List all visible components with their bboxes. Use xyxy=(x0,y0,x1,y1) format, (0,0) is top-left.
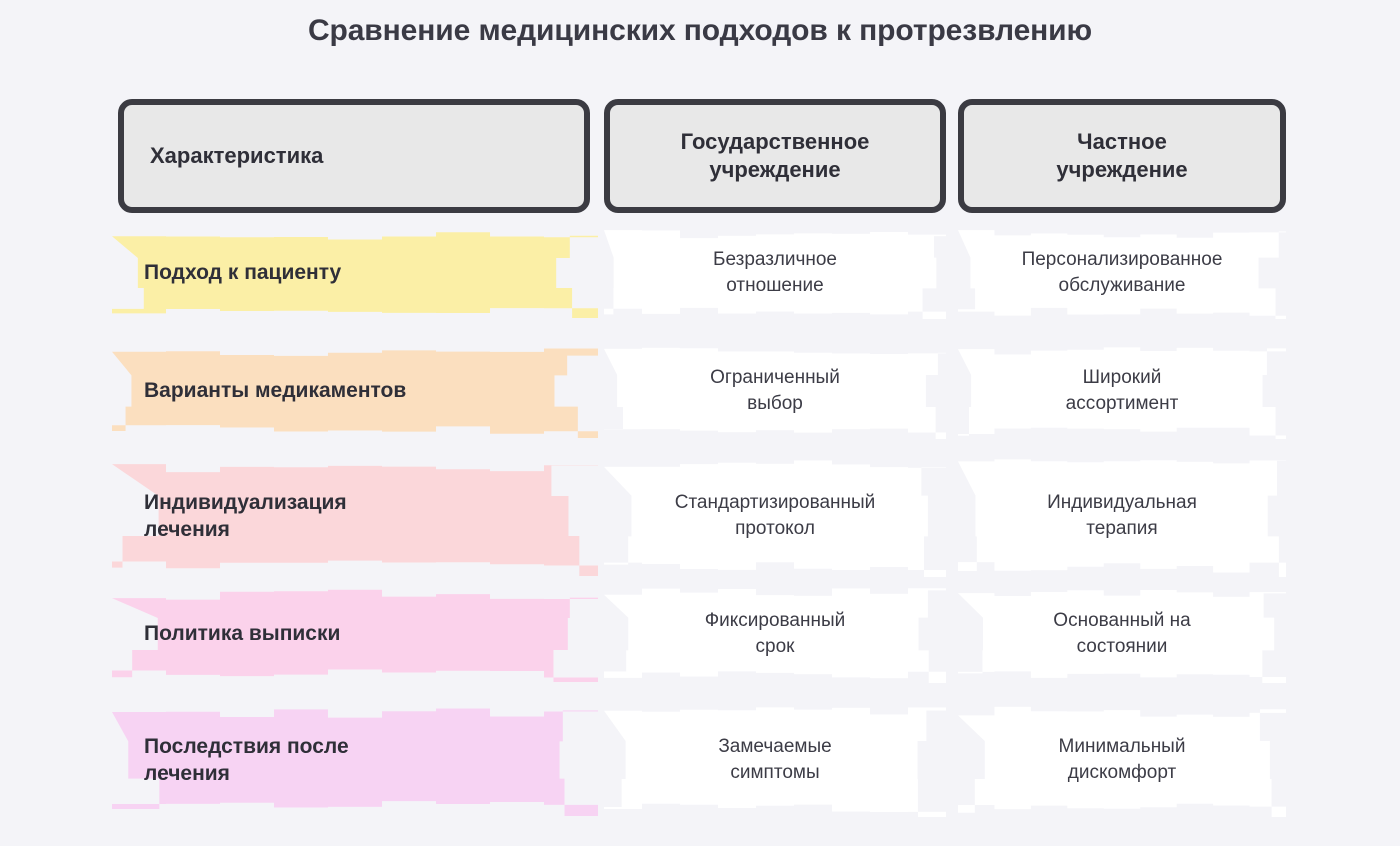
row-label-text: Индивидуализация лечения xyxy=(144,489,347,544)
row-label-cell: Индивидуализация лечения xyxy=(112,452,598,580)
cell-value-text: Основанный на состоянии xyxy=(1053,608,1190,660)
cell-value-text: Замечаемые симптомы xyxy=(718,734,831,786)
row-label-cell: Подход к пациенту xyxy=(112,224,598,322)
row-value-cell: Безразличное отношение xyxy=(604,224,946,322)
row-value-cell: Индивидуальная терапия xyxy=(958,452,1286,580)
cell-value-text: Безразличное отношение xyxy=(713,247,837,299)
row-label-text: Подход к пациенту xyxy=(144,259,341,286)
cell-value-text: Персонализированное обслуживание xyxy=(1022,247,1223,299)
row-label-text: Политика выписки xyxy=(144,620,340,647)
row-value-cell: Замечаемые симптомы xyxy=(604,700,946,820)
row-label-text: Варианты медикаментов xyxy=(144,377,406,404)
row-label-cell: Политика выписки xyxy=(112,582,598,686)
table-header-row: Характеристика Государственное учреждени… xyxy=(0,92,1400,220)
column-header-label: Государственное учреждение xyxy=(681,128,870,184)
column-header-public-institution: Государственное учреждение xyxy=(604,99,946,213)
table-row: Политика выпискиФиксированный срокОснова… xyxy=(0,582,1400,686)
comparison-table: Характеристика Государственное учреждени… xyxy=(0,92,1400,842)
cell-value-text: Фиксированный срок xyxy=(705,608,846,660)
table-row: Подход к пациентуБезразличное отношениеП… xyxy=(0,224,1400,322)
column-header-label: Характеристика xyxy=(150,142,323,170)
cell-value-text: Минимальный дискомфорт xyxy=(1059,734,1186,786)
cell-value-text: Стандартизированный протокол xyxy=(675,490,876,542)
row-label-cell: Последствия после лечения xyxy=(112,700,598,820)
row-label-cell: Варианты медикаментов xyxy=(112,340,598,442)
table-row: Последствия после леченияЗамечаемые симп… xyxy=(0,700,1400,820)
column-header-characteristic: Характеристика xyxy=(118,99,590,213)
cell-value-text: Индивидуальная терапия xyxy=(1047,490,1197,542)
table-row: Варианты медикаментовОграниченный выборШ… xyxy=(0,340,1400,442)
page-title: Сравнение медицинских подходов к протрез… xyxy=(0,14,1400,48)
row-value-cell: Минимальный дискомфорт xyxy=(958,700,1286,820)
row-value-cell: Основанный на состоянии xyxy=(958,582,1286,686)
column-header-private-institution: Частное учреждение xyxy=(958,99,1286,213)
column-header-label: Частное учреждение xyxy=(1056,128,1187,184)
row-value-cell: Ограниченный выбор xyxy=(604,340,946,442)
row-value-cell: Персонализированное обслуживание xyxy=(958,224,1286,322)
row-label-text: Последствия после лечения xyxy=(144,733,349,788)
table-row: Индивидуализация леченияСтандартизирован… xyxy=(0,452,1400,580)
cell-value-text: Широкий ассортимент xyxy=(1066,365,1179,417)
row-value-cell: Широкий ассортимент xyxy=(958,340,1286,442)
cell-value-text: Ограниченный выбор xyxy=(710,365,840,417)
row-value-cell: Фиксированный срок xyxy=(604,582,946,686)
row-value-cell: Стандартизированный протокол xyxy=(604,452,946,580)
